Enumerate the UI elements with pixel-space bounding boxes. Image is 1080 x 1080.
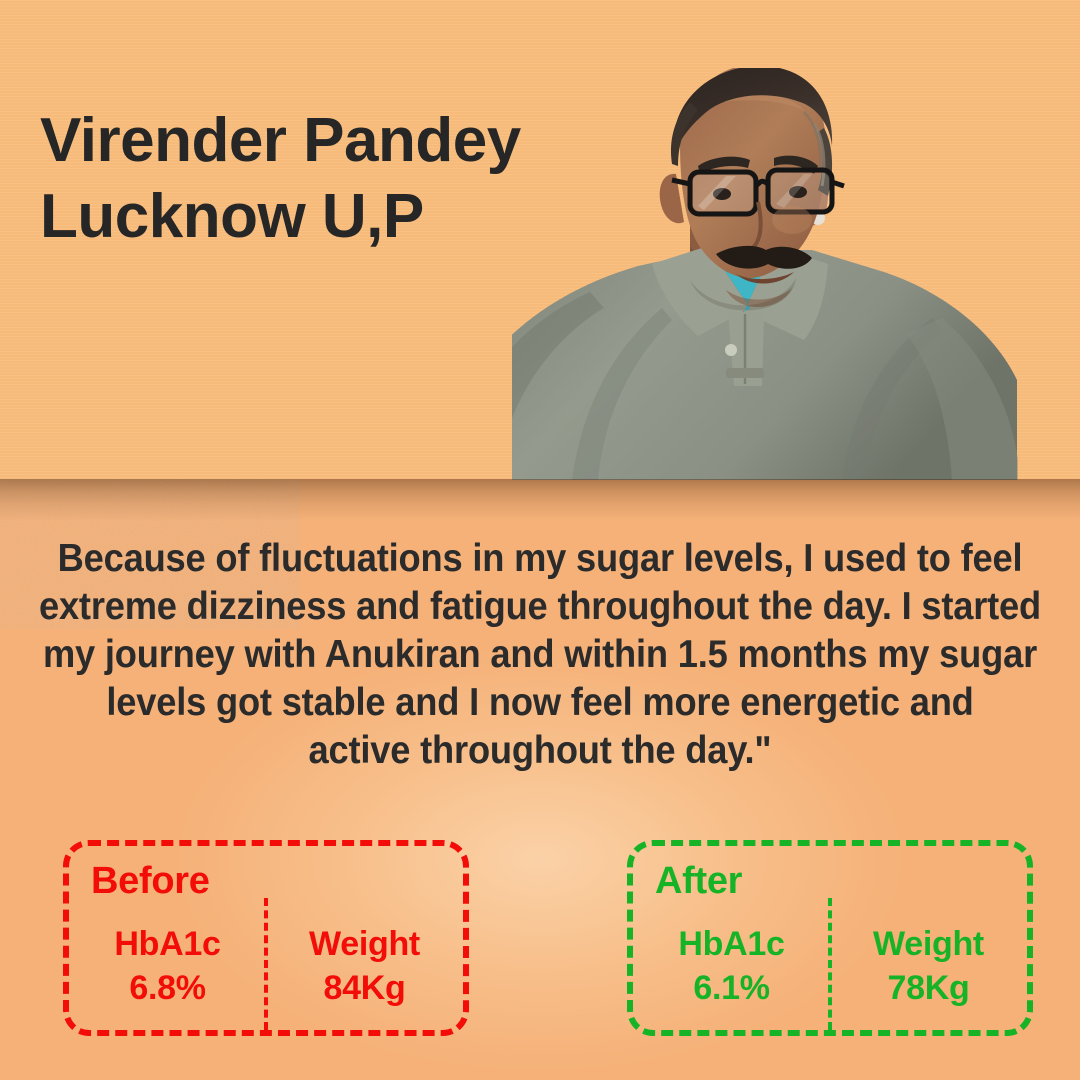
stat-label: Weight (830, 922, 1027, 966)
quote-line: extreme dizziness and fatigue throughout… (38, 583, 1042, 631)
quote-line: levels got stable and I now feel more en… (38, 679, 1042, 727)
stat-metric-weight-after: Weight 78Kg (830, 922, 1027, 1010)
stat-label: HbA1c (633, 922, 830, 966)
patient-identity: Virender Pandey Lucknow U,P (40, 103, 521, 255)
stat-metric-hba1c-after: HbA1c 6.1% (633, 922, 830, 1010)
stats-box-before: Before HbA1c 6.8% Weight 84Kg (63, 840, 469, 1036)
stats-box-after: After HbA1c 6.1% Weight 78Kg (627, 840, 1033, 1036)
quote-line: my journey with Anukiran and within 1.5 … (38, 631, 1042, 679)
quote-line: Because of fluctuations in my sugar leve… (38, 535, 1042, 583)
testimonial-quote: Because of fluctuations in my sugar leve… (0, 535, 1080, 775)
stat-label: Weight (266, 922, 463, 966)
stats-columns-before: HbA1c 6.8% Weight 84Kg (69, 922, 463, 1010)
stats-title-after: After (655, 860, 742, 902)
stat-metric-hba1c-before: HbA1c 6.8% (69, 922, 266, 1010)
stats-title-before: Before (91, 860, 210, 902)
portrait-photo (512, 68, 1022, 480)
quote-line: active throughout the day." (38, 727, 1042, 775)
stat-value: 6.8% (69, 966, 266, 1010)
stat-label: HbA1c (69, 922, 266, 966)
patient-name: Virender Pandey (40, 103, 521, 179)
stats-columns-after: HbA1c 6.1% Weight 78Kg (633, 922, 1027, 1010)
stat-metric-weight-before: Weight 84Kg (266, 922, 463, 1010)
patient-location: Lucknow U,P (40, 179, 521, 255)
testimonial-card: Virender Pandey Lucknow U,P (0, 0, 1080, 1080)
stat-value: 6.1% (633, 966, 830, 1010)
stat-value: 78Kg (830, 966, 1027, 1010)
stat-value: 84Kg (266, 966, 463, 1010)
